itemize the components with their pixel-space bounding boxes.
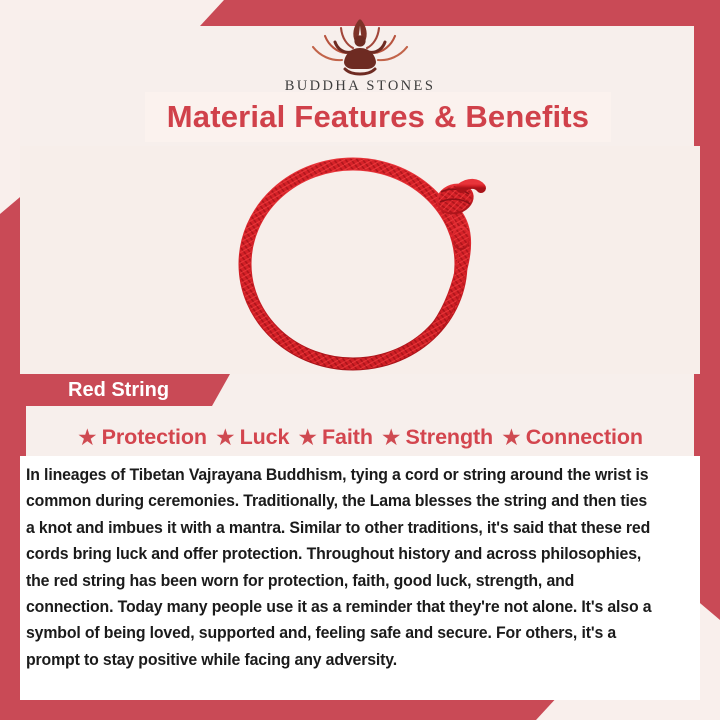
benefit-item: ★ Luck: [215, 425, 289, 450]
benefit-label: Strength: [406, 425, 494, 450]
benefit-label: Luck: [240, 425, 290, 450]
lotus-meditation-icon: [301, 14, 419, 76]
brand-logo: BUDDHA STONES: [0, 14, 720, 95]
benefit-item: ★ Protection: [77, 425, 207, 450]
benefit-label: Faith: [322, 425, 373, 450]
benefit-item: ★ Faith: [297, 425, 372, 450]
ribbon-text: Red String: [68, 379, 169, 402]
red-braided-string-bracelet-icon: [225, 152, 495, 374]
product-image-area: [20, 146, 700, 374]
benefit-label: Protection: [102, 425, 207, 450]
description-panel: In lineages of Tibetan Vajrayana Buddhis…: [20, 456, 700, 700]
star-icon: ★: [501, 426, 522, 449]
star-icon: ★: [381, 426, 402, 449]
star-icon: ★: [215, 426, 236, 449]
description-text: In lineages of Tibetan Vajrayana Buddhis…: [26, 462, 658, 673]
benefit-item: ★ Strength: [381, 425, 493, 450]
star-icon: ★: [77, 426, 98, 449]
title-band: Material Features & Benefits: [145, 92, 611, 142]
benefit-label: Connection: [526, 425, 643, 450]
page-title: Material Features & Benefits: [167, 99, 590, 135]
benefits-row: ★ Protection ★ Luck ★ Faith ★ Strength ★…: [20, 418, 700, 456]
benefit-item: ★ Connection: [501, 425, 643, 450]
star-icon: ★: [297, 426, 318, 449]
poster: BUDDHA STONES Material Features & Benefi…: [0, 0, 720, 720]
product-ribbon-label: Red String: [20, 374, 230, 406]
